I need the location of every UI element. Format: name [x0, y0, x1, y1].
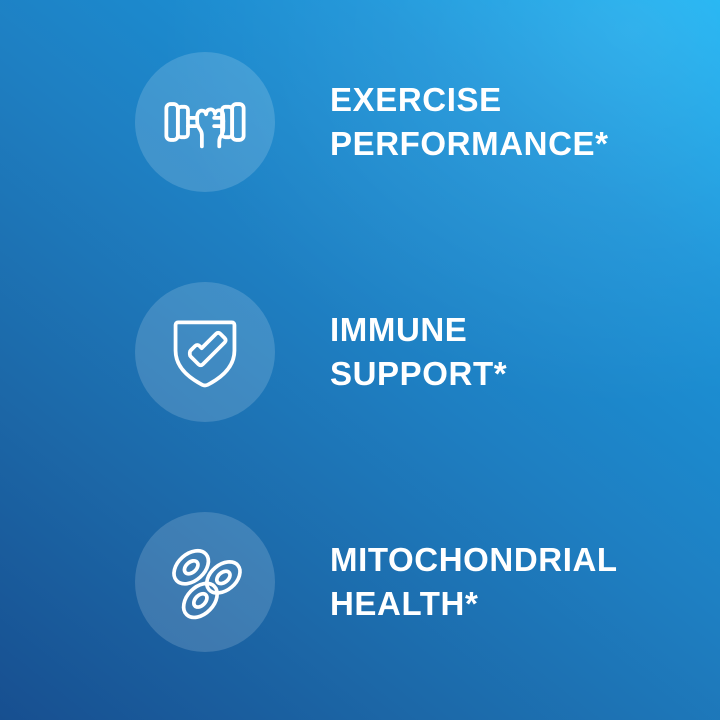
dumbbell-hand-icon — [159, 76, 251, 168]
shield-check-icon — [159, 306, 251, 398]
mitochondria-cells-icon — [159, 536, 251, 628]
benefit-label-exercise-performance: EXERCISE PERFORMANCE* — [330, 78, 609, 166]
benefit-item-immune-support: IMMUNE SUPPORT* — [0, 282, 720, 422]
mitochondria-cells-icon-badge — [135, 512, 275, 652]
benefit-label-mitochondrial-health: MITOCHONDRIAL HEALTH* — [330, 538, 618, 626]
benefit-label-immune-support: IMMUNE SUPPORT* — [330, 308, 507, 396]
benefit-item-exercise-performance: EXERCISE PERFORMANCE* — [0, 52, 720, 192]
benefit-item-mitochondrial-health: MITOCHONDRIAL HEALTH* — [0, 512, 720, 652]
benefits-panel: EXERCISE PERFORMANCE* IMMUNE SUPPORT* — [0, 0, 720, 720]
shield-check-icon-badge — [135, 282, 275, 422]
benefit-list: EXERCISE PERFORMANCE* IMMUNE SUPPORT* — [0, 0, 720, 720]
dumbbell-hand-icon-badge — [135, 52, 275, 192]
